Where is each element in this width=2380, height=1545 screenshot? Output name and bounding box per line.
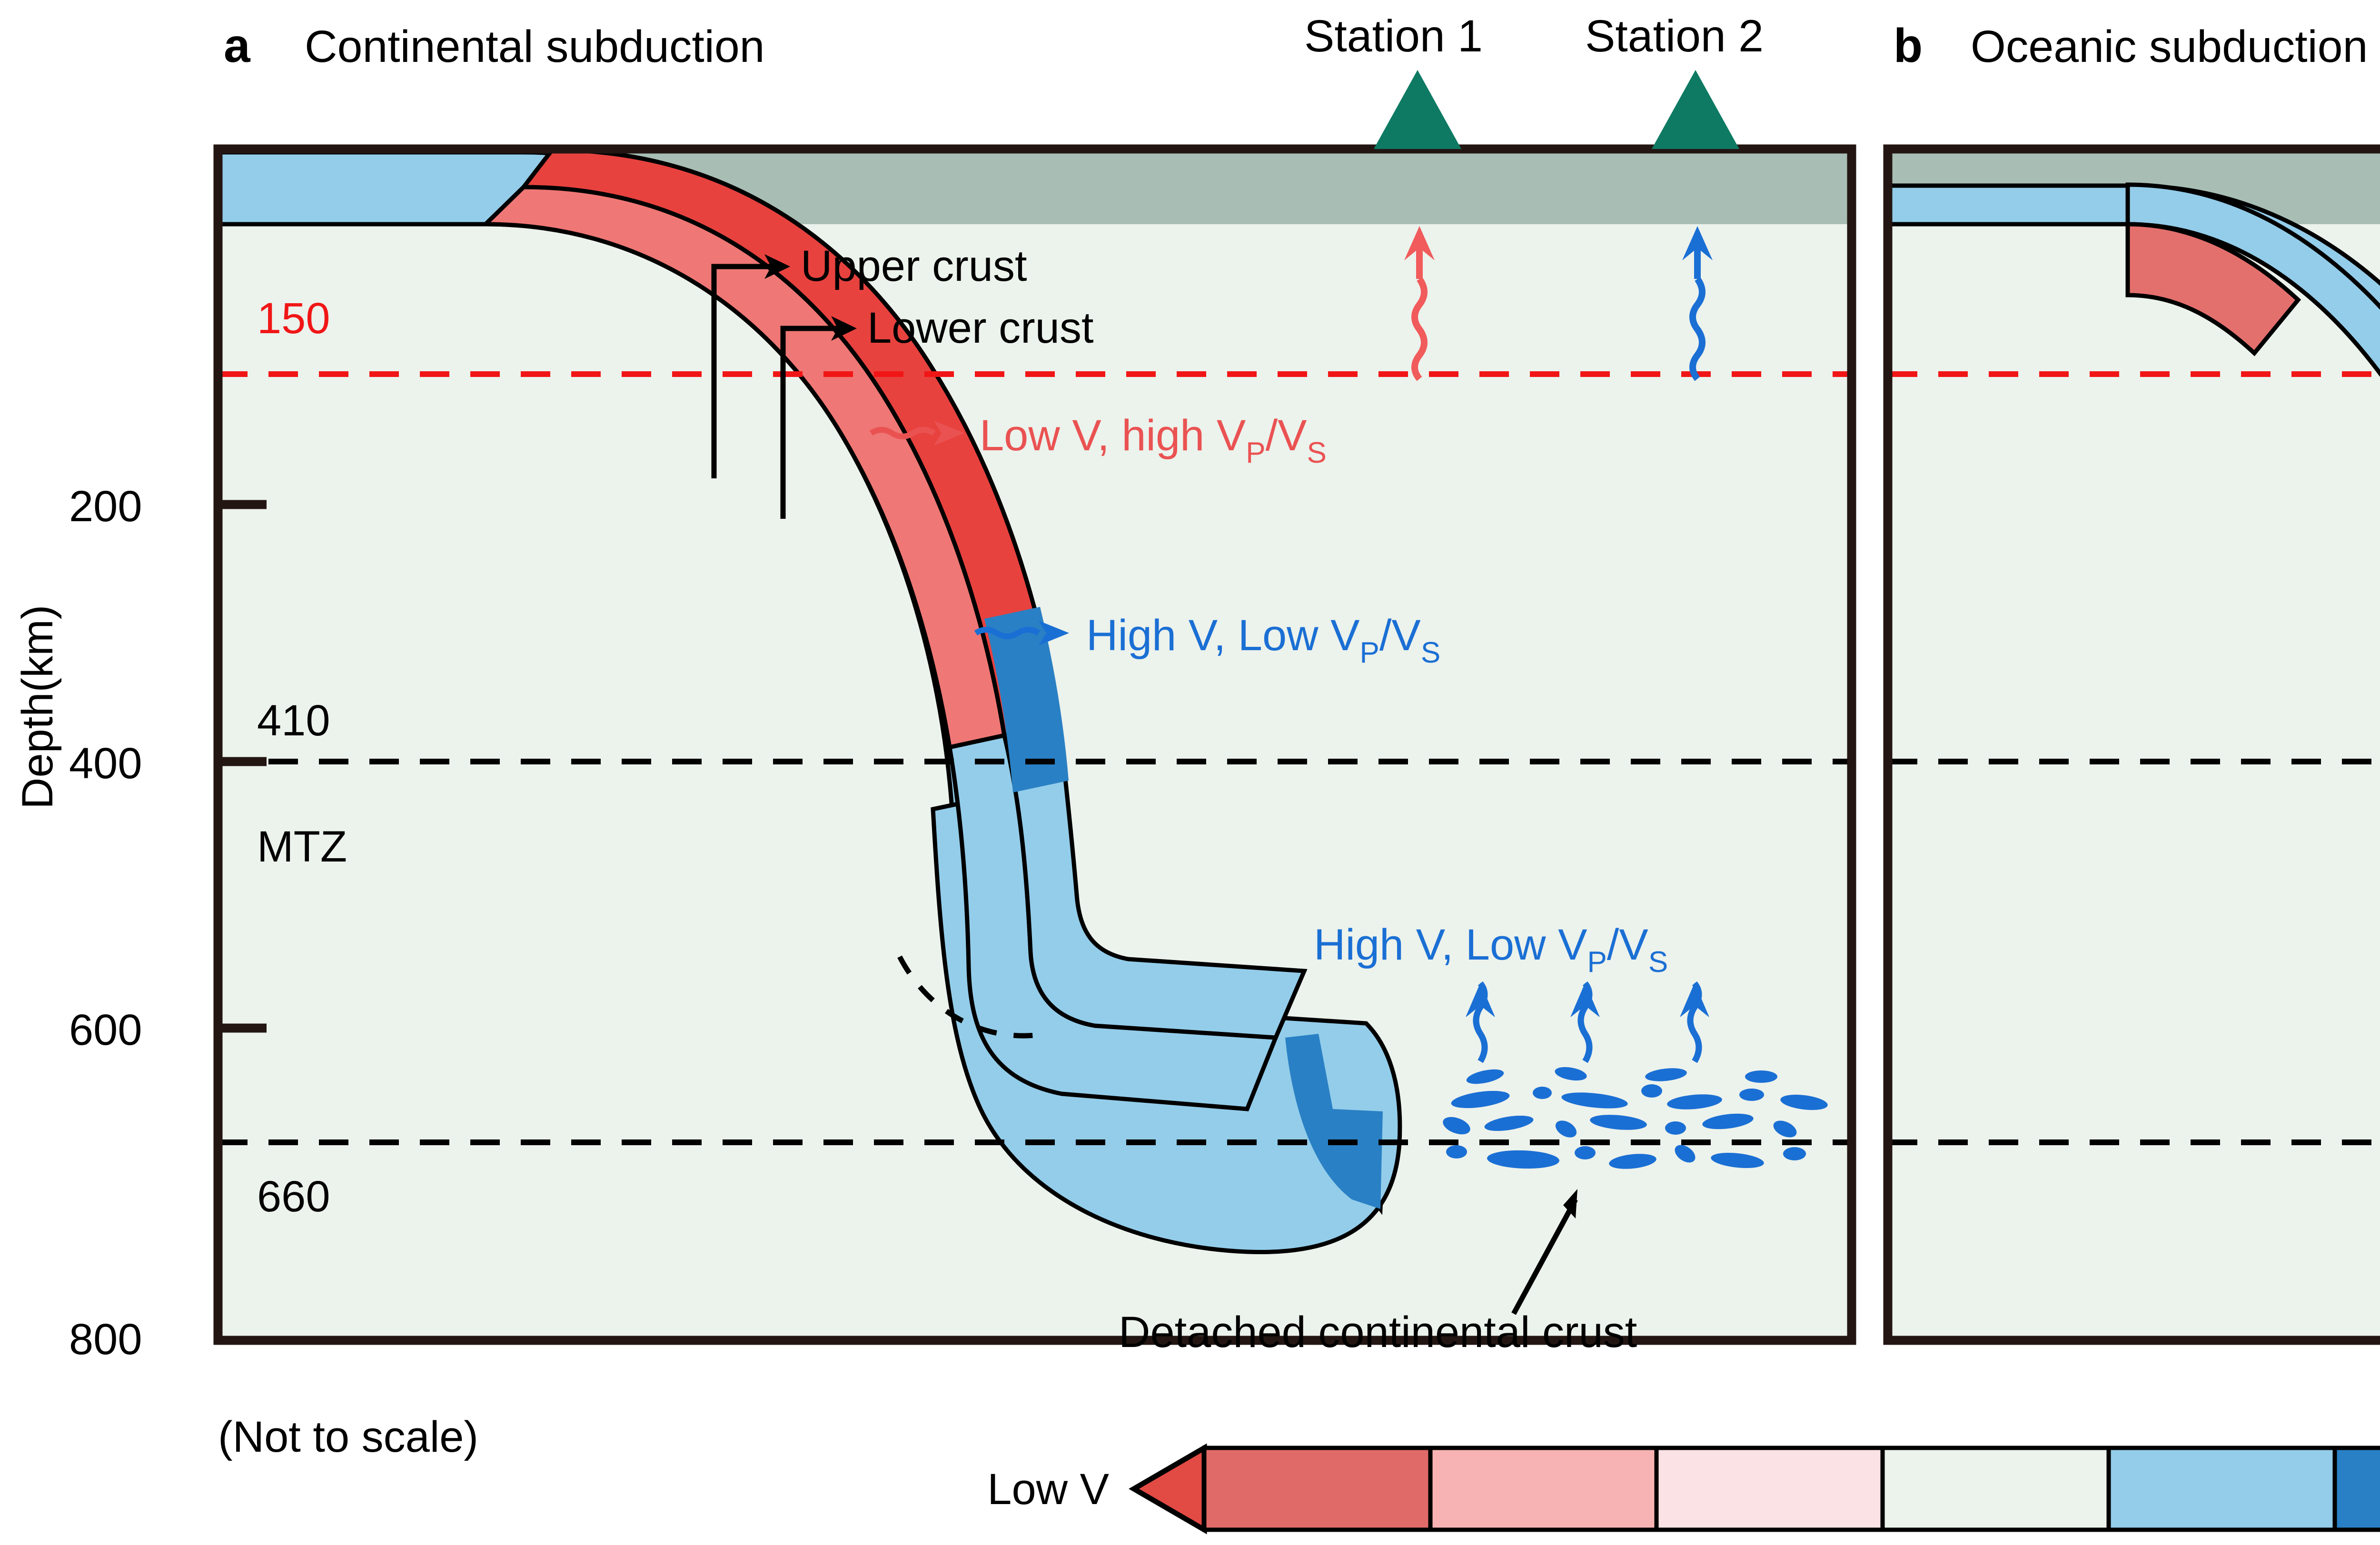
- colorbar-segment-2: [1430, 1448, 1656, 1530]
- station-2-triangle[interactable]: [1652, 70, 1739, 149]
- figure-root: a Continental subduction 150 410 MTZ 660…: [0, 0, 2380, 1545]
- not-to-scale-note: (Not to scale): [218, 1413, 478, 1461]
- panel-a-letter: a: [224, 19, 251, 72]
- panel-a-ann-upper-crust: Upper crust: [801, 242, 1027, 290]
- colorbar-segment-3: [1656, 1448, 1883, 1530]
- colorbar-low-label: Low V: [987, 1465, 1109, 1514]
- colorbar-segment-5: [2109, 1448, 2335, 1530]
- tick-label-200: 200: [69, 482, 142, 531]
- station-1-triangle[interactable]: [1374, 70, 1461, 149]
- tick-label-600: 600: [69, 1006, 142, 1054]
- colorbar-segment-6: [2335, 1448, 2380, 1530]
- panel-a-ann-detached: Detached continental crust: [1119, 1308, 1637, 1357]
- colorbar-segment-4: [1883, 1448, 2109, 1530]
- panel-b-background: [1888, 149, 2380, 1340]
- station-2-label: Station 2: [1585, 11, 1764, 61]
- station-1-label: Station 1: [1304, 11, 1483, 61]
- colorbar-left-arrow: [1134, 1448, 1204, 1530]
- colorbar: Low V high V: [987, 1448, 2380, 1530]
- panel-a-label-150: 150: [257, 294, 330, 343]
- panel-a-label-mtz: MTZ: [257, 822, 347, 871]
- panel-a: a Continental subduction 150 410 MTZ 660…: [218, 19, 1852, 1357]
- panel-a-label-410: 410: [257, 696, 330, 745]
- depth-axis-label: Depth(km): [13, 605, 62, 809]
- panel-b-letter: b: [1894, 19, 1923, 72]
- tick-label-400: 400: [69, 739, 142, 788]
- tick-label-800: 800: [69, 1315, 142, 1364]
- panel-b-title: Oceanic subduction: [1971, 21, 2368, 72]
- panel-a-title: Continental subduction: [305, 21, 765, 72]
- panel-b: b Oceanic subduction 150 410 MTZ 660 Oce…: [1888, 19, 2380, 1357]
- colorbar-segment-1: [1204, 1448, 1430, 1530]
- panel-a-ann-lower-crust: Lower crust: [867, 304, 1094, 352]
- panel-a-label-660: 660: [257, 1172, 330, 1221]
